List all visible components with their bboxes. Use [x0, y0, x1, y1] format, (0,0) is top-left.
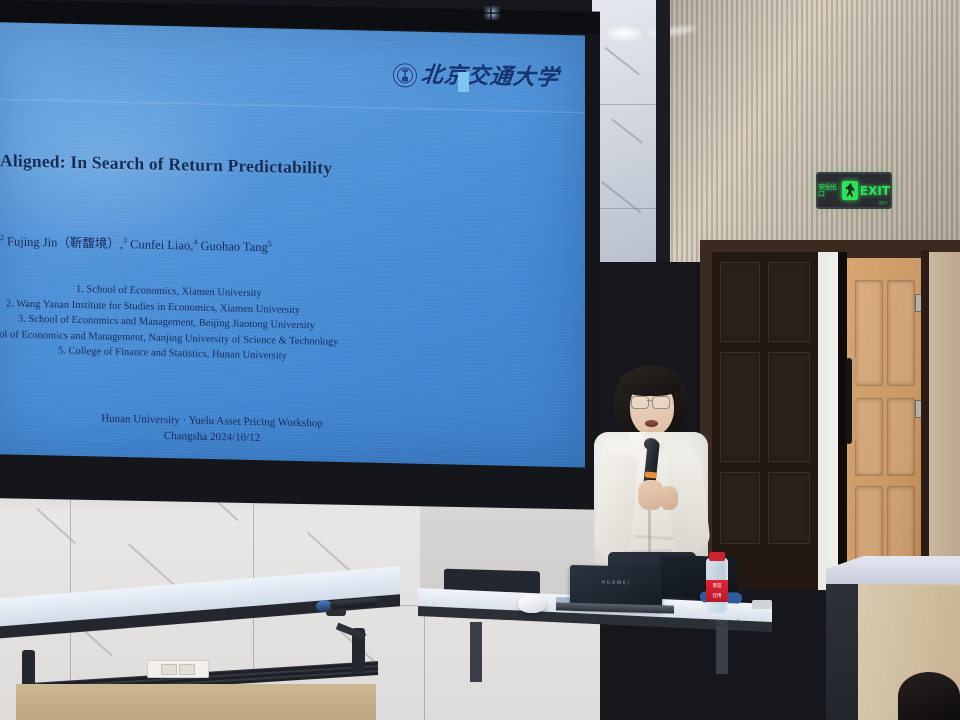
outlet-socket-right [179, 664, 195, 675]
exit-sign-chinese-label: 安全出口 [818, 184, 840, 198]
presenter-mouth [645, 420, 658, 427]
ceiling-light-reflection [606, 26, 642, 41]
door-handle-highlight [852, 358, 857, 440]
eyeglass-right-lens-icon [652, 396, 670, 409]
microphone-indicator-ring [645, 471, 658, 478]
table-microphone-body [330, 597, 379, 609]
computer-mouse[interactable] [518, 595, 546, 613]
bottle-label-line2: 饮用 [706, 590, 728, 600]
university-seal-icon [393, 63, 417, 88]
university-logo: 北京交通大学 [393, 63, 559, 91]
presenter-second-hand [660, 486, 678, 510]
wooden-base-panel [16, 684, 376, 720]
slide-logo-accent-bar [458, 72, 469, 92]
slide-affiliations: 1. School of Economics, Xiamen Universit… [0, 280, 510, 370]
bottle-cap [709, 552, 725, 561]
presenter-table-leg-left [470, 622, 482, 682]
eyeglass-bridge [647, 400, 652, 401]
slide-footer: Hunan University · Yuelu Asset Pricing W… [52, 409, 372, 448]
exit-sign-english-label: EXIT [860, 185, 890, 197]
projected-slide: 北京交通大学 ngible Assets Aligned: In Search … [0, 22, 585, 468]
university-name-cn: 北京交通大学 [420, 65, 560, 90]
emergency-exit-sign: 安全出口 EXIT 出口 [816, 172, 892, 209]
bottle-label: 景田 饮用 [706, 580, 728, 602]
conference-room-photo: 安全出口 EXIT 出口 [0, 0, 960, 720]
ceiling-fixture-icon [484, 6, 500, 20]
dark-door[interactable] [712, 252, 818, 590]
eyeglass-left-lens-icon [631, 396, 649, 409]
author-2: Fujing Jin（靳馥境）, [4, 234, 123, 251]
exit-sign-small-mark: 出口 [879, 200, 887, 206]
small-device[interactable] [752, 600, 772, 609]
presenter-table-leg-right [716, 620, 728, 674]
far-door-panel [929, 252, 960, 590]
author-3: Cunfei Liao, [127, 237, 193, 253]
author-4-affil-sup: 5 [268, 239, 272, 248]
bottle-label-line1: 景田 [706, 580, 728, 590]
presenter-fringe [620, 368, 682, 396]
door-edge [921, 250, 929, 590]
author-4: Guohao Tang [197, 239, 267, 255]
column-right-shadow [656, 0, 670, 262]
audience-member-head [898, 672, 960, 720]
laptop-brand-label: HUAWEI [601, 580, 630, 587]
light-wood-door[interactable] [847, 258, 921, 590]
running-person-icon [842, 181, 858, 200]
outlet-socket-left [161, 664, 177, 675]
wall-power-outlet[interactable] [147, 660, 209, 678]
